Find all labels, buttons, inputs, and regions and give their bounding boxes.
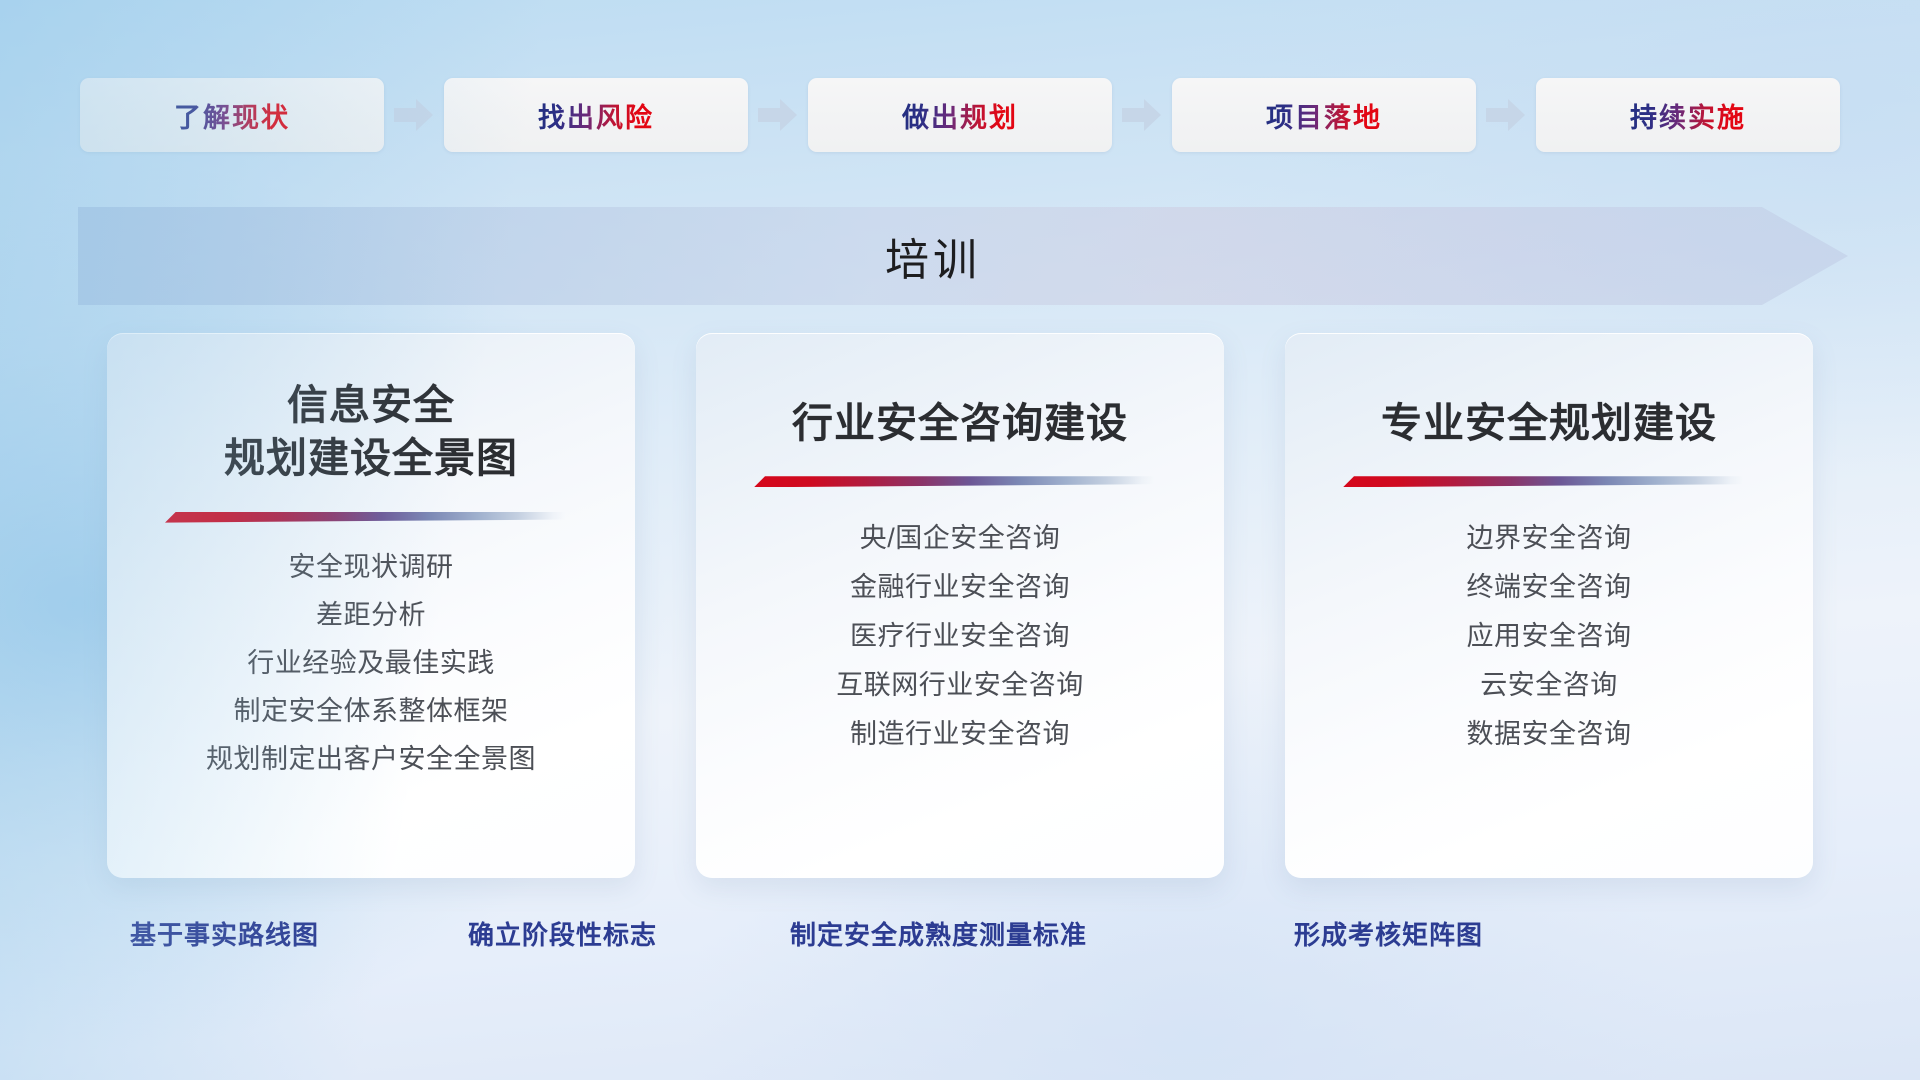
list-item: 医疗行业安全咨询 (696, 612, 1224, 661)
process-step-row: 了解现状 找出风险 做出规划 项目落地 (0, 78, 1920, 152)
footer-label-1: 基于事实路线图 (130, 915, 319, 952)
list-item: 制造行业安全咨询 (696, 710, 1224, 759)
step-arrow-icon-1 (384, 98, 444, 132)
step-label-5: 持续实施 (1630, 96, 1746, 135)
card-info-security-panorama[interactable]: 信息安全 规划建设全景图 安全现状调研 差距分析 行业经验及最佳实践 制定安全体… (107, 333, 635, 878)
step-arrow-icon-3 (1112, 98, 1172, 132)
step-arrow-icon-4 (1476, 98, 1536, 132)
card-divider-1 (165, 512, 565, 524)
footer-label-2: 确立阶段性标志 (468, 915, 657, 952)
card-divider-2 (754, 476, 1154, 488)
list-item: 云安全咨询 (1285, 661, 1813, 710)
footer-label-row: 基于事实路线图 确立阶段性标志 制定安全成熟度测量标准 形成考核矩阵图 (0, 915, 1920, 959)
list-item: 终端安全咨询 (1285, 563, 1813, 612)
card-divider-3 (1343, 476, 1743, 488)
banner-title: 培训 (78, 207, 1848, 305)
card-row: 信息安全 规划建设全景图 安全现状调研 差距分析 行业经验及最佳实践 制定安全体… (0, 333, 1920, 878)
card-list-1: 安全现状调研 差距分析 行业经验及最佳实践 制定安全体系整体框架 规划制定出客户… (107, 544, 635, 784)
list-item: 边界安全咨询 (1285, 514, 1813, 563)
list-item: 制定安全体系整体框架 (107, 688, 635, 736)
step-label-4: 项目落地 (1266, 96, 1382, 135)
step-label-3: 做出规划 (902, 96, 1018, 135)
list-item: 互联网行业安全咨询 (696, 661, 1224, 710)
training-banner: 培训 (78, 207, 1848, 305)
step-box-1[interactable]: 了解现状 (80, 78, 384, 152)
slide-canvas: 了解现状 找出风险 做出规划 项目落地 (0, 0, 1920, 1080)
list-item: 行业经验及最佳实践 (107, 640, 635, 688)
list-item: 数据安全咨询 (1285, 710, 1813, 759)
footer-label-4: 形成考核矩阵图 (1294, 915, 1483, 952)
step-label-2: 找出风险 (538, 96, 654, 135)
card-list-2: 央/国企安全咨询 金融行业安全咨询 医疗行业安全咨询 互联网行业安全咨询 制造行… (696, 514, 1224, 759)
card-title-1: 信息安全 规划建设全景图 (224, 379, 518, 486)
step-label-1: 了解现状 (174, 96, 290, 135)
list-item: 金融行业安全咨询 (696, 563, 1224, 612)
step-box-5[interactable]: 持续实施 (1536, 78, 1840, 152)
step-box-4[interactable]: 项目落地 (1172, 78, 1476, 152)
list-item: 安全现状调研 (107, 544, 635, 592)
card-title-2: 行业安全咨询建设 (792, 397, 1128, 450)
step-box-3[interactable]: 做出规划 (808, 78, 1112, 152)
step-arrow-icon-2 (748, 98, 808, 132)
step-box-2[interactable]: 找出风险 (444, 78, 748, 152)
card-list-3: 边界安全咨询 终端安全咨询 应用安全咨询 云安全咨询 数据安全咨询 (1285, 514, 1813, 759)
card-industry-security-consulting[interactable]: 行业安全咨询建设 央/国企安全咨询 金融行业安全咨询 医疗行业安全咨询 互联网行… (696, 333, 1224, 878)
list-item: 差距分析 (107, 592, 635, 640)
list-item: 应用安全咨询 (1285, 612, 1813, 661)
footer-label-3: 制定安全成熟度测量标准 (790, 915, 1087, 952)
list-item: 央/国企安全咨询 (696, 514, 1224, 563)
card-professional-security-planning[interactable]: 专业安全规划建设 边界安全咨询 终端安全咨询 应用安全咨询 云安全咨询 数据安全… (1285, 333, 1813, 878)
list-item: 规划制定出客户安全全景图 (107, 736, 635, 784)
card-title-3: 专业安全规划建设 (1381, 397, 1717, 450)
